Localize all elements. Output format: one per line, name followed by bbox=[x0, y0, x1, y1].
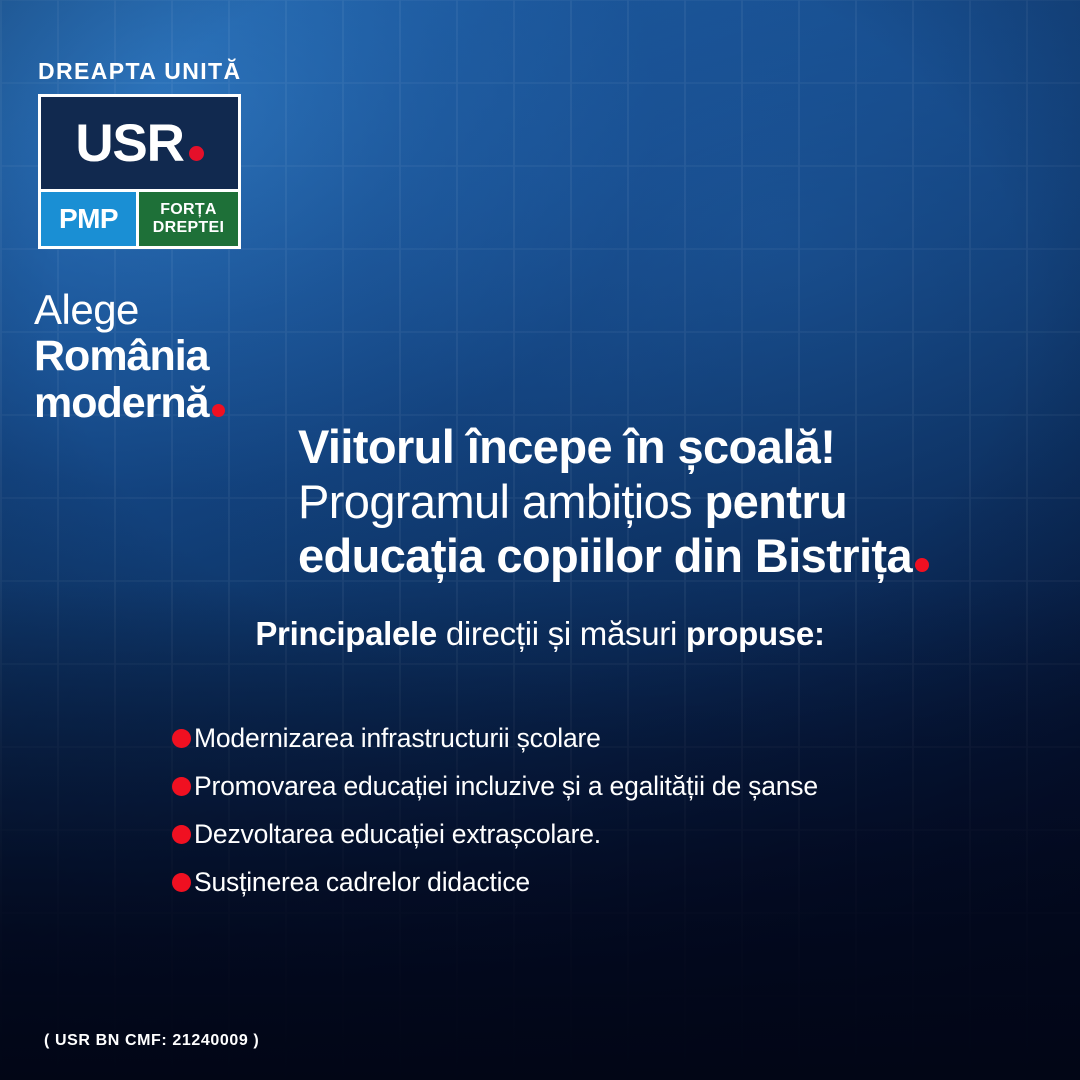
slogan-line-3-text: modernă bbox=[34, 379, 209, 427]
headline-line-2-regular: Programul ambițios bbox=[298, 475, 705, 528]
usr-wordmark: USR bbox=[75, 117, 203, 170]
headline-line-1: Viitorul începe în școală! bbox=[298, 420, 1038, 475]
list-item-label: Susținerea cadrelor didactice bbox=[194, 866, 530, 900]
bullet-dot-icon bbox=[172, 873, 191, 892]
poster-content: DREAPTA UNITĂ USR PMP FORȚA DREPTEI bbox=[0, 0, 1080, 1080]
headline-line-3: educația copiilor din Bistrița bbox=[298, 529, 1038, 584]
partner-logos-row: PMP FORȚA DREPTEI bbox=[41, 189, 238, 246]
slogan-line-3: modernă bbox=[34, 382, 225, 426]
usr-logo-panel: USR bbox=[41, 97, 238, 189]
measures-list: Modernizarea infrastructurii școlare Pro… bbox=[172, 722, 1002, 914]
list-item: Dezvoltarea educației extrașcolare. bbox=[172, 818, 1002, 852]
usr-logo-text: USR bbox=[75, 114, 183, 173]
pmp-logo-tile: PMP bbox=[41, 192, 139, 246]
forta-dreptei-line2: DREPTEI bbox=[153, 220, 224, 236]
list-item: Modernizarea infrastructurii școlare bbox=[172, 722, 1002, 756]
subheading-regular-middle: direcții și măsuri bbox=[437, 615, 686, 652]
campaign-slogan: Alege România modernă bbox=[34, 289, 225, 426]
list-item-label: Modernizarea infrastructurii școlare bbox=[194, 722, 601, 756]
bullet-dot-icon bbox=[172, 825, 191, 844]
subheading: Principalele direcții și măsuri propuse: bbox=[0, 615, 1080, 653]
subheading-bold-end: propuse: bbox=[686, 615, 825, 652]
list-item-label: Dezvoltarea educației extrașcolare. bbox=[194, 818, 601, 852]
headline-line-2: Programul ambițios pentru bbox=[298, 475, 1038, 530]
subheading-bold-start: Principalele bbox=[255, 615, 437, 652]
cmf-disclaimer: ( USR BN CMF: 21240009 ) bbox=[44, 1032, 259, 1050]
headline-red-dot-icon bbox=[915, 558, 929, 572]
slogan-line-2: România bbox=[34, 335, 225, 379]
brand-block: DREAPTA UNITĂ USR PMP FORȚA DREPTEI bbox=[38, 60, 338, 249]
bullet-dot-icon bbox=[172, 777, 191, 796]
headline-line-2-bold: pentru bbox=[705, 475, 848, 528]
list-item: Susținerea cadrelor didactice bbox=[172, 866, 1002, 900]
pmp-logo-text: PMP bbox=[59, 205, 118, 233]
slogan-red-dot-icon bbox=[212, 404, 225, 417]
coalition-logo: USR PMP FORȚA DREPTEI bbox=[38, 94, 241, 249]
coalition-name-label: DREAPTA UNITĂ bbox=[38, 60, 338, 83]
headline-line-3-bold: educația copiilor din Bistrița bbox=[298, 529, 912, 582]
headline-line-1-text: Viitorul începe în școală! bbox=[298, 420, 835, 473]
slogan-line-1: Alege bbox=[34, 289, 225, 332]
forta-dreptei-line1: FORȚA bbox=[160, 202, 217, 218]
campaign-poster: DREAPTA UNITĂ USR PMP FORȚA DREPTEI bbox=[0, 0, 1080, 1080]
bullet-dot-icon bbox=[172, 729, 191, 748]
usr-red-dot-icon bbox=[189, 146, 204, 161]
list-item-label: Promovarea educației incluzive și a egal… bbox=[194, 770, 818, 804]
forta-dreptei-logo-tile: FORȚA DREPTEI bbox=[139, 192, 238, 246]
headline: Viitorul începe în școală! Programul amb… bbox=[298, 420, 1038, 584]
list-item: Promovarea educației incluzive și a egal… bbox=[172, 770, 1002, 804]
